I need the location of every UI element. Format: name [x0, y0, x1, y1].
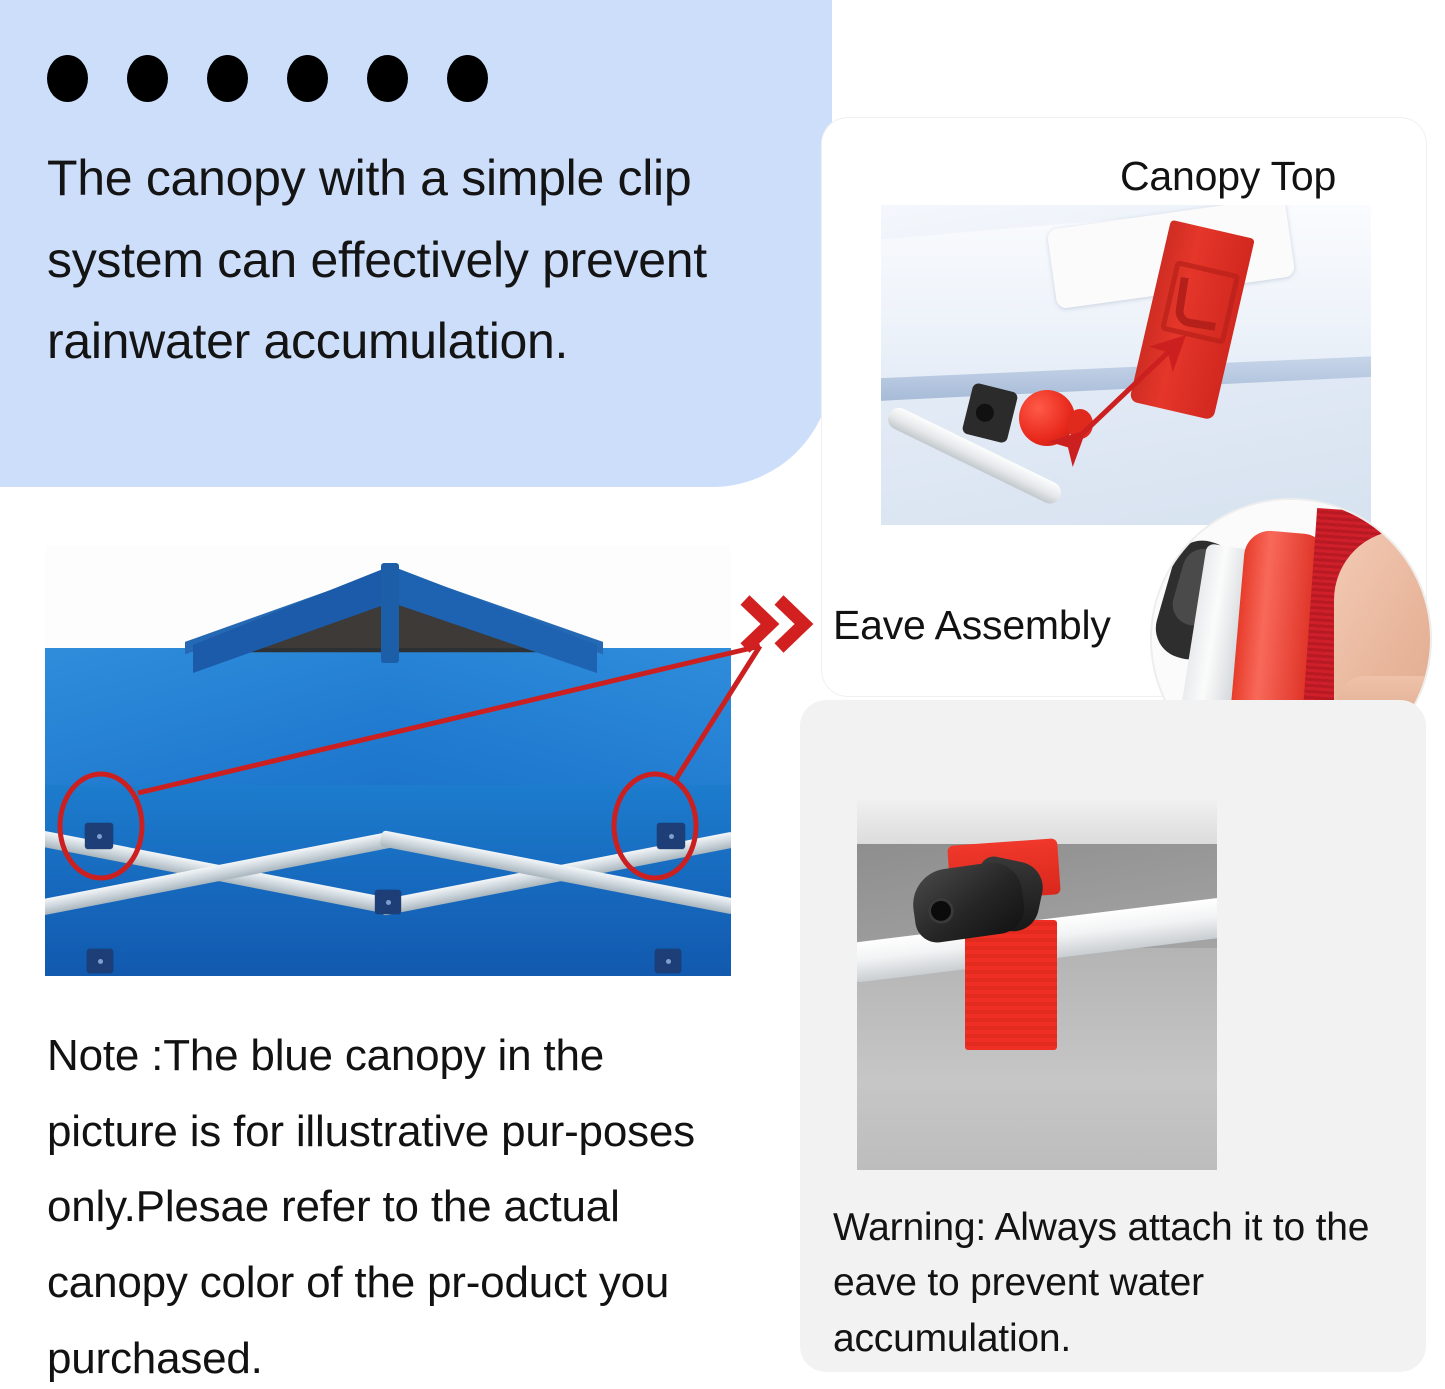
canopy-clip-node: [655, 949, 681, 973]
headline-text: The canopy with a simple clip system can…: [47, 138, 817, 383]
canopy-clip-node: [85, 823, 113, 849]
canopy-top-label: Canopy Top: [1120, 153, 1336, 200]
bullet-dot-icon: [47, 55, 88, 102]
illustrative-note-text: Note :The blue canopy in the picture is …: [47, 1018, 737, 1389]
canopy-clip-node: [87, 949, 113, 973]
bullet-dot-icon: [127, 55, 168, 102]
canopy-clip-node: [375, 890, 401, 914]
canopy-clip-node: [657, 823, 685, 849]
bullet-dot-icon: [367, 55, 408, 102]
bullet-dot-icon: [447, 55, 488, 102]
double-headed-arrow-icon: [881, 205, 1371, 525]
red-webbing-strap: [965, 920, 1057, 1050]
canopy-peak-ridge: [381, 563, 399, 663]
canopy-top-photo: [45, 545, 731, 976]
header-callout-card: The canopy with a simple clip system can…: [0, 0, 832, 487]
photo-background-top: [857, 800, 1217, 844]
dots-row: [47, 55, 488, 102]
bullet-dot-icon: [287, 55, 328, 102]
warning-text: Warning: Always attach it to the eave to…: [833, 1200, 1413, 1366]
bullet-dot-icon: [207, 55, 248, 102]
infographic-root: The canopy with a simple clip system can…: [0, 0, 1445, 1389]
eave-assembly-detail-photo: [857, 800, 1217, 1170]
eave-assembly-label: Eave Assembly: [833, 602, 1111, 649]
canopy-top-detail-photo: [881, 205, 1371, 525]
